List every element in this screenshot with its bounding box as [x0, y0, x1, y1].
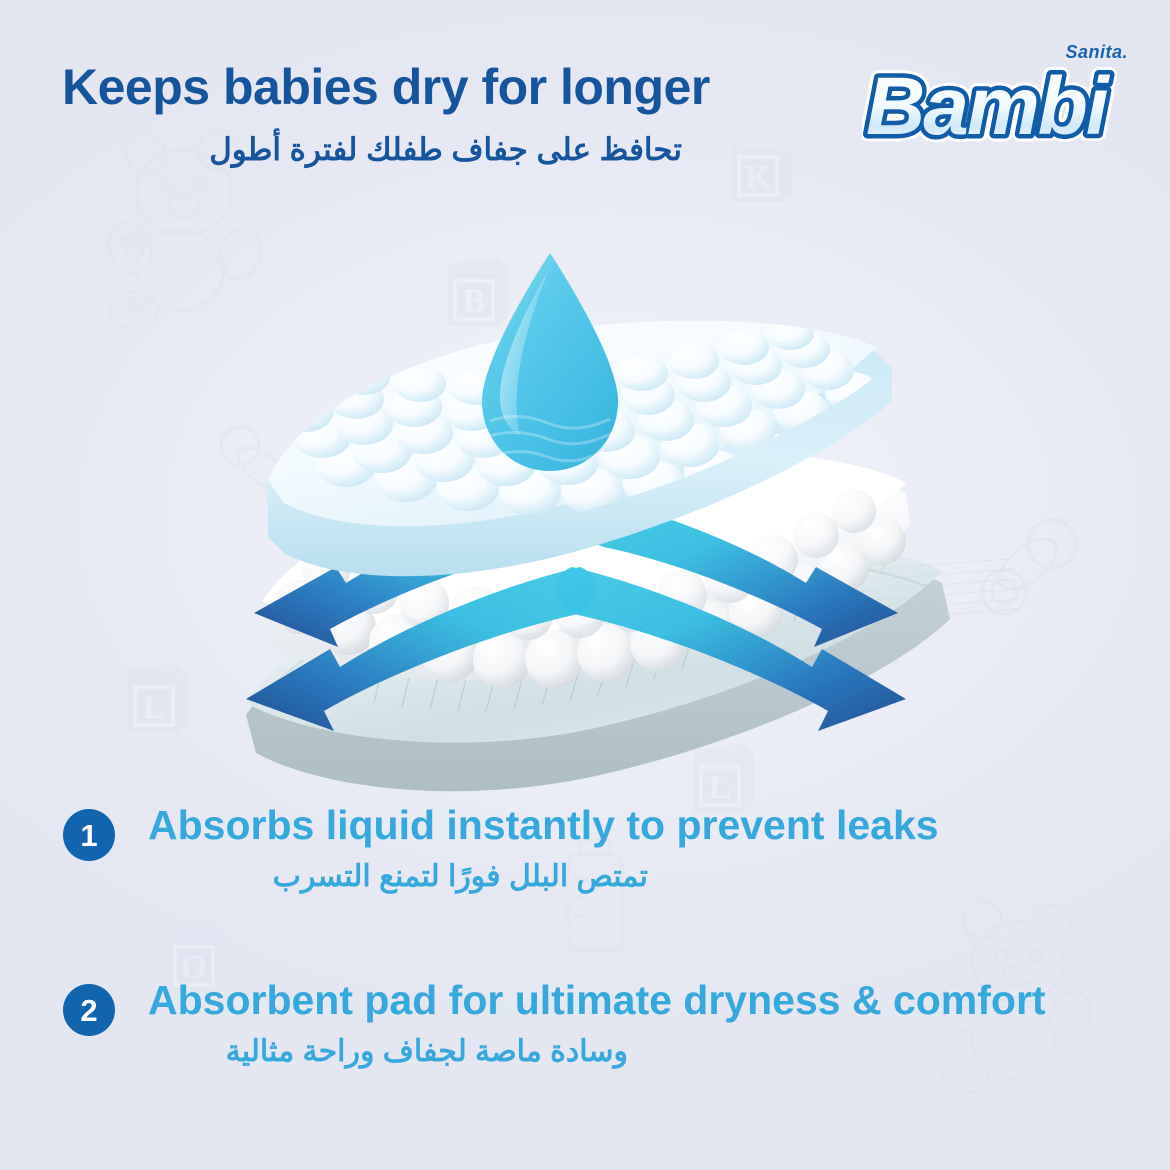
bullet-badge-1: 1 [63, 809, 115, 861]
bullet-badge-2: 2 [63, 984, 115, 1036]
list-item: 2 Absorbent pad for ultimate dryness & c… [0, 970, 1170, 1145]
list-item: 1 Absorbs liquid instantly to prevent le… [0, 795, 1170, 970]
bullet-text-en-2: Absorbent pad for ultimate dryness & com… [148, 979, 1046, 1022]
brand-logo: Sanita. Bambi Bambi Bambi [862, 38, 1142, 158]
water-droplet [482, 253, 618, 471]
page-title-arabic: تحافظ على جفاف طفلك لفترة أطول [62, 131, 682, 170]
bullet-text-ar-2: وسادة ماصة لجفاف وراحة مثالية [148, 1032, 628, 1071]
diaper-layers-illustration [150, 215, 1030, 795]
bullet-text-en-1: Absorbs liquid instantly to prevent leak… [148, 804, 939, 847]
poster-canvas: K B L L O [0, 0, 1170, 1170]
svg-text:Bambi: Bambi [866, 61, 1111, 152]
feature-list: 1 Absorbs liquid instantly to prevent le… [0, 795, 1170, 1145]
bambi-wordmark: Bambi Bambi Bambi [862, 58, 1130, 163]
bullet-text-ar-1: تمتص البلل فورًا لتمنع التسرب [148, 857, 648, 896]
page-title: Keeps babies dry for longer [62, 62, 782, 112]
header: Keeps babies dry for longer تحافظ على جف… [0, 0, 1170, 200]
